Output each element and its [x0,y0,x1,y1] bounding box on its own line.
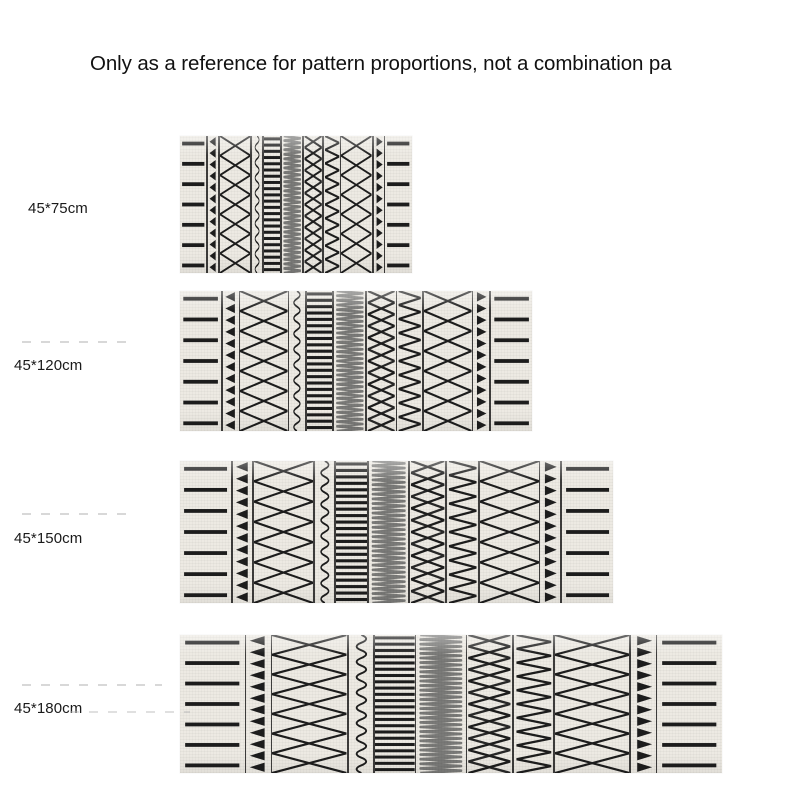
triangle-row-band [324,136,340,273]
diamond-lattice-band-2 [555,635,629,773]
right-triangles-band [473,291,489,431]
horizontal-dashes-band [180,136,206,273]
zigzag-band [410,461,445,603]
horizontal-dashes-band-2 [657,635,722,773]
left-triangles-band [233,461,253,603]
rug-45x150cm[interactable] [180,461,613,603]
thin-wave-band [289,291,305,431]
gray-spring-band [369,461,408,603]
right-triangles-band [631,635,656,773]
zigzag-band [304,136,322,273]
diamond-lattice-band-2 [480,461,539,603]
rug-pattern-bands [180,291,532,431]
horizontal-dashes-band-2 [562,461,613,603]
scan-artifact-dashes [22,513,134,515]
vertical-stripes-band [375,635,415,773]
right-triangles-band [374,136,384,273]
vertical-stripes-band [307,291,332,431]
thin-wave-band [349,635,374,773]
diamond-lattice-band-2 [424,291,472,431]
rug-pattern-bands [180,635,722,773]
triangle-row-band [397,291,422,431]
diamond-lattice-band-2 [341,136,372,273]
scan-artifact-dashes [22,684,162,686]
size-label-45x120cm: 45*120cm [14,357,82,374]
horizontal-dashes-band-2 [491,291,532,431]
gray-spring-band [334,291,366,431]
rug-pattern-bands [180,461,613,603]
zigzag-band [367,291,396,431]
rug-pattern-bands [180,136,412,273]
size-label-45x150cm: 45*150cm [14,530,82,547]
thin-wave-band [315,461,335,603]
left-triangles-band [208,136,218,273]
left-triangles-band [223,291,239,431]
rug-45x180cm[interactable] [180,635,722,773]
right-triangles-band [540,461,560,603]
diamond-lattice-band [272,635,346,773]
horizontal-dashes-band [180,635,245,773]
rug-45x120cm[interactable] [180,291,532,431]
diamond-lattice-band [254,461,313,603]
horizontal-dashes-band [180,461,231,603]
page-title: Only as a reference for pattern proporti… [90,50,800,78]
left-triangles-band [246,635,271,773]
vertical-stripes-band [336,461,367,603]
size-label-45x180cm: 45*180cm [14,700,82,717]
rug-45x75cm[interactable] [180,136,412,273]
horizontal-dashes-band [180,291,221,431]
triangle-row-band [514,635,554,773]
zigzag-band [467,635,512,773]
gray-spring-band [282,136,302,273]
size-label-45x75cm: 45*75cm [28,200,88,217]
vertical-stripes-band [264,136,280,273]
scan-artifact-dashes [22,341,134,343]
horizontal-dashes-band-2 [385,136,411,273]
thin-wave-band [252,136,262,273]
triangle-row-band [447,461,478,603]
diamond-lattice-band [240,291,288,431]
gray-spring-band [416,635,466,773]
diamond-lattice-band [220,136,251,273]
rug-size-reference-image: Only as a reference for pattern proporti… [0,0,800,800]
scan-artifact-dashes [70,711,190,713]
